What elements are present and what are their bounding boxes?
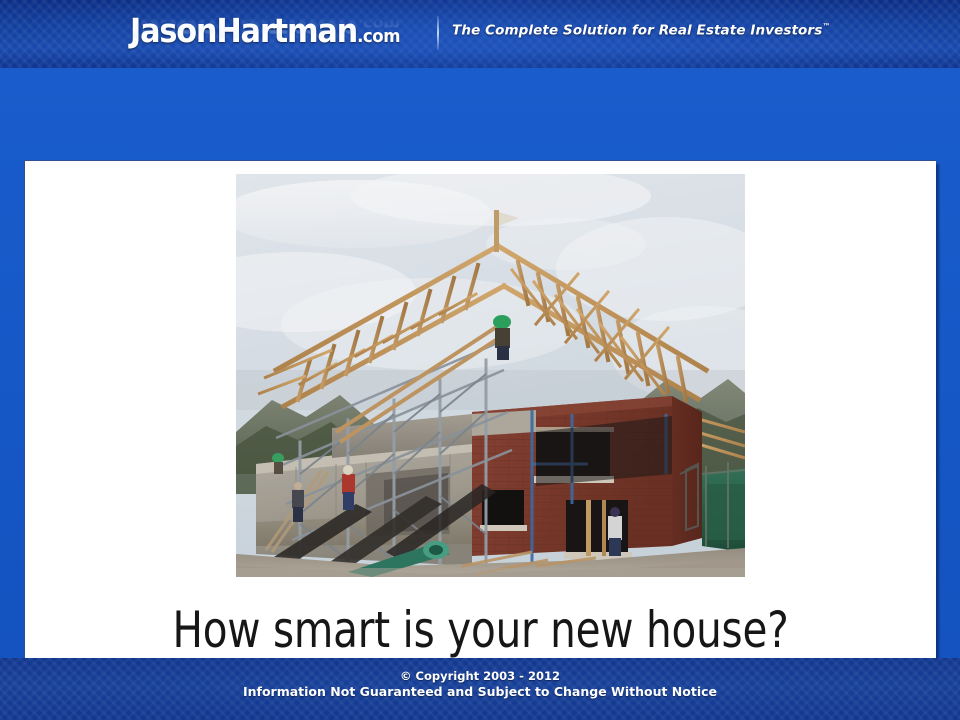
slide-content-panel: How smart is your new house?	[24, 160, 936, 699]
copyright-text: © Copyright 2003 - 2012	[0, 669, 960, 684]
slide-header-banner: JasonHartman.com JasonHartman.com The Co…	[0, 0, 960, 68]
presentation-slide: JasonHartman.com JasonHartman.com The Co…	[0, 0, 960, 720]
slide-body: How smart is your new house?	[0, 68, 960, 658]
site-logo[interactable]: JasonHartman.com JasonHartman.com	[130, 14, 423, 47]
trademark-mark: ™	[822, 22, 830, 31]
construction-photo	[236, 174, 745, 577]
disclaimer-text: Information Not Guaranteed and Subject t…	[0, 684, 960, 699]
vertical-divider-icon	[437, 16, 439, 50]
tagline-text: The Complete Solution for Real Estate In…	[452, 23, 822, 39]
logo-tld-text: .com	[357, 26, 400, 47]
logo-wordmark: JasonHartman.com	[130, 14, 400, 47]
brand-tagline: The Complete Solution for Real Estate In…	[452, 22, 830, 39]
brand-lockup[interactable]: JasonHartman.com JasonHartman.com The Co…	[130, 14, 831, 50]
logo-name-text: JasonHartman	[130, 11, 357, 50]
slide-headline: How smart is your new house?	[71, 601, 891, 659]
slide-footer-banner: © Copyright 2003 - 2012 Information Not …	[0, 658, 960, 720]
construction-photo-graphic	[236, 174, 745, 577]
